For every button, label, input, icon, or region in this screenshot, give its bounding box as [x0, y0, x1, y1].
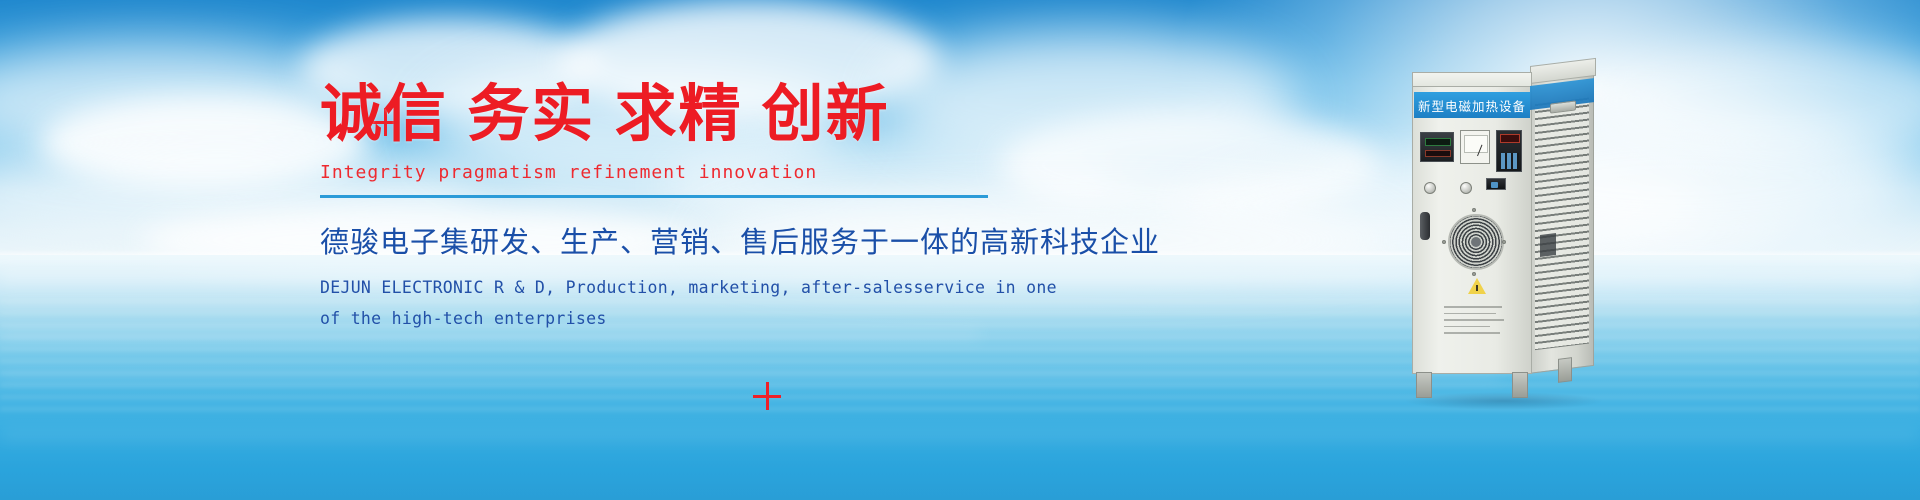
- power-switch: [1486, 178, 1506, 190]
- machine-shadow: [1404, 392, 1604, 410]
- headline-en: Integrity pragmatism refinement innovati…: [320, 162, 1020, 183]
- machine-label: 新型电磁加热设备: [1414, 92, 1530, 118]
- machine-leg: [1416, 372, 1432, 398]
- machine-side-panel: [1528, 70, 1594, 374]
- machine-leg: [1558, 357, 1572, 383]
- subtitle-en: DEJUN ELECTRONIC R & D, Production, mark…: [320, 273, 1020, 334]
- divider: [320, 195, 988, 198]
- fan-screw: [1472, 272, 1476, 276]
- subtitle-en-line2: of the high-tech enterprises: [320, 304, 1020, 335]
- cooling-fan-icon: [1448, 214, 1504, 270]
- product-image-heating-machine: 新型电磁加热设备: [1390, 62, 1620, 412]
- control-knob: [1424, 182, 1436, 194]
- ventilation-grille: [1535, 98, 1589, 351]
- plus-marker-bottom: [753, 382, 781, 410]
- spec-label-block: [1444, 306, 1506, 339]
- promo-banner: 诚信 务实 求精 创新 Integrity pragmatism refinem…: [0, 0, 1920, 500]
- sea-band: [0, 372, 1500, 379]
- door-handle: [1420, 212, 1430, 240]
- control-panel: [1420, 128, 1524, 174]
- control-knob: [1460, 182, 1472, 194]
- analog-ammeter-icon: [1460, 130, 1490, 164]
- banner-copy: 诚信 务实 求精 创新 Integrity pragmatism refinem…: [320, 84, 1020, 334]
- subtitle-cn: 德骏电子集研发、生产、营销、售后服务于一体的高新科技企业: [320, 219, 1020, 261]
- side-badge: [1540, 233, 1556, 257]
- fan-screw: [1442, 240, 1446, 244]
- headline-cn: 诚信 务实 求精 创新: [320, 84, 1020, 146]
- cloud: [1000, 110, 1380, 220]
- cloud: [1600, 40, 1920, 160]
- fan-screw: [1502, 240, 1506, 244]
- cloud: [0, 40, 360, 160]
- keypad-controller-icon: [1496, 130, 1522, 172]
- fan-screw: [1472, 208, 1476, 212]
- sea-band: [0, 430, 1920, 439]
- subtitle-en-line1: DEJUN ELECTRONIC R & D, Production, mark…: [320, 273, 1020, 304]
- high-voltage-warning-icon: [1468, 278, 1486, 294]
- machine-leg: [1512, 372, 1528, 398]
- digital-controller-icon: [1420, 132, 1454, 162]
